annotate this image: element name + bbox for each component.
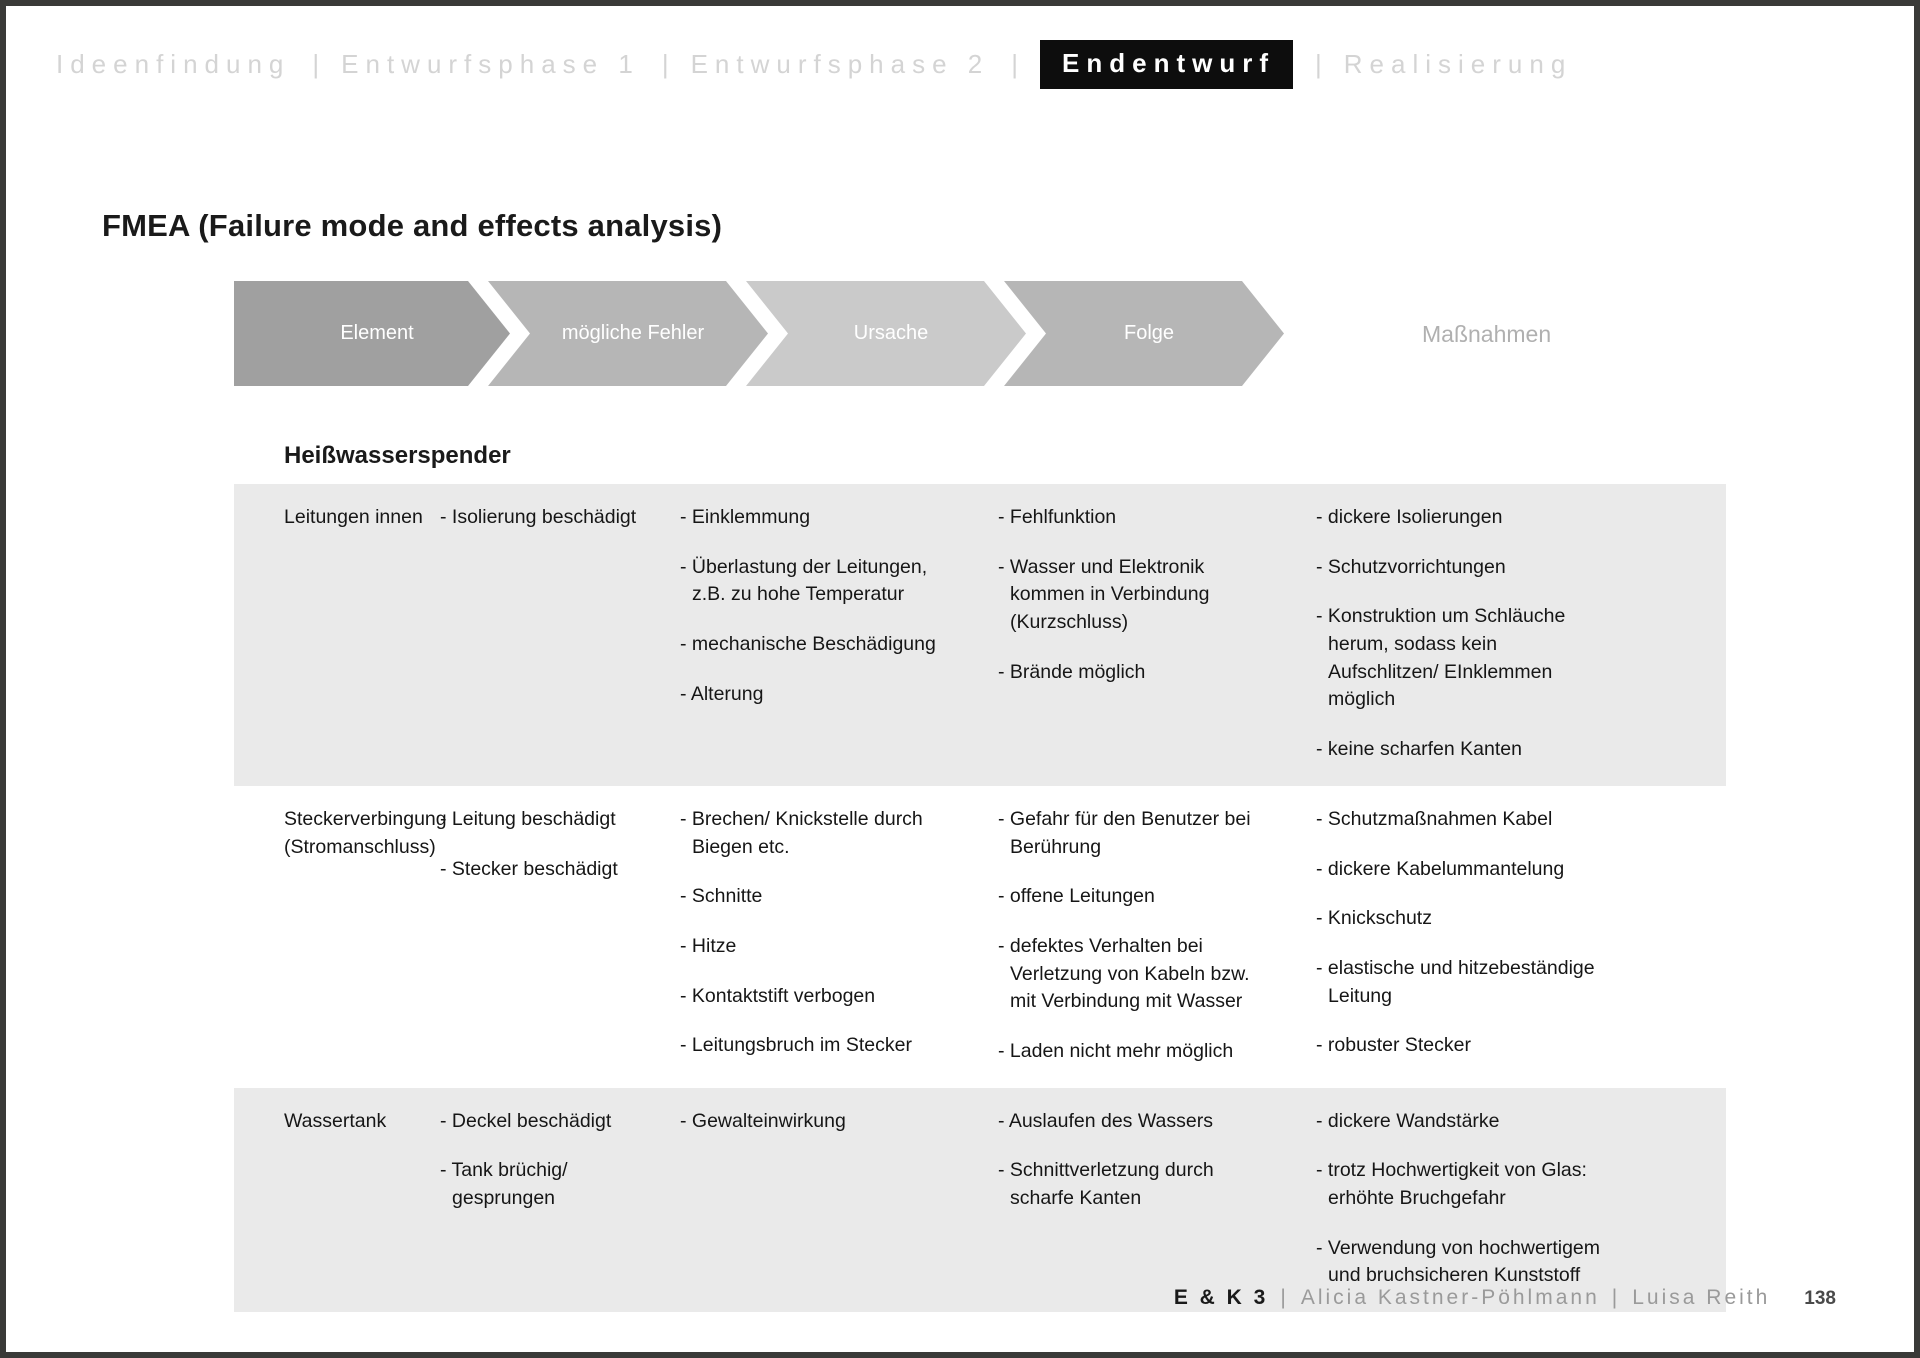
bullet-item: - dickere Wandstärke [1316,1108,1656,1136]
footer: E & K 3 | Alicia Kastner-Pöhlmann | Luis… [1174,1286,1836,1310]
bullet-item: - robuster Stecker [1316,1032,1656,1060]
bullet-item: - Wasser und Elektronik kommen in Verbin… [998,554,1302,637]
bullet-item: - Knickschutz [1316,905,1656,933]
bullet-item: - Brechen/ Knickstelle durch Biegen etc. [680,806,984,861]
cell-folge: - Fehlfunktion - Wasser und Elektronik k… [998,504,1316,764]
table-row: Leitungen innen - Isolierung beschädigt … [234,484,1726,786]
bullet-item: - Fehlfunktion [998,504,1302,532]
cell-folge: - Gefahr für den Benutzer bei Berührung … [998,806,1316,1066]
chevron-step-ursache: Ursache [746,281,1026,386]
bullet-item: - Gewalteinwirkung [680,1108,984,1136]
phase-separator: | [1293,49,1344,80]
bullet-item: - Hitze [680,933,984,961]
footer-author-1: Alicia Kastner-Pöhlmann [1301,1286,1600,1310]
cell-ursache: - Einklemmung - Überlastung der Leitunge… [680,504,998,764]
bullet-item: - Schnittverletzung durch scharfe Kanten [998,1157,1302,1212]
bullet-item: - Verwendung von hochwertigem und bruchs… [1316,1235,1656,1290]
footer-team: E & K 3 [1174,1286,1269,1310]
cell-ursache: - Gewalteinwirkung [680,1108,998,1290]
bullet-item: - Überlastung der Leitungen, z.B. zu hoh… [680,554,984,609]
cell-massnahmen: - Schutzmaßnahmen Kabel - dickere Kabelu… [1316,806,1666,1066]
cell-massnahmen: - dickere Wandstärke - trotz Hochwertigk… [1316,1108,1666,1290]
cell-moegliche-fehler: - Deckel beschädigt - Tank brüchig/ gesp… [440,1108,680,1290]
table-row: Wassertank - Deckel beschädigt - Tank br… [234,1088,1726,1312]
bullet-item: - Brände möglich [998,659,1302,687]
cell-massnahmen: - dickere Isolierungen - Schutzvorrichtu… [1316,504,1666,764]
phase-item-endentwurf[interactable]: Endentwurf [1040,40,1293,89]
cell-moegliche-fehler: - Isolierung beschädigt [440,504,680,764]
fmea-table: Leitungen innen - Isolierung beschädigt … [234,484,1726,1312]
bullet-item: - Laden nicht mehr möglich [998,1038,1302,1066]
page-title: FMEA (Failure mode and effects analysis) [102,208,722,244]
bullet-item: - Isolierung beschädigt [440,504,670,532]
bullet-item: - Leitung beschädigt [440,806,670,834]
phase-item-entwurfsphase-1[interactable]: Entwurfsphase 1 [341,43,640,86]
cell-folge: - Auslaufen des Wassers - Schnittverletz… [998,1108,1316,1290]
footer-separator: | [1600,1286,1632,1310]
phase-item-realisierung[interactable]: Realisierung [1344,43,1573,86]
bullet-item: - Schutzvorrichtungen [1316,554,1656,582]
phase-item-entwurfsphase-2[interactable]: Entwurfsphase 2 [691,43,990,86]
chevron-step-element: Element [234,281,510,386]
slide: Ideenfindung | Entwurfsphase 1 | Entwurf… [0,0,1920,1358]
cell-element: Leitungen innen [234,504,440,764]
bullet-item: - Kontaktstift verbogen [680,983,984,1011]
chevron-step-folge: Folge [1004,281,1284,386]
bullet-item: - Auslaufen des Wassers [998,1108,1302,1136]
phase-item-ideenfindung[interactable]: Ideenfindung [56,43,290,86]
bullet-item: - mechanische Beschädigung [680,631,984,659]
cell-text: Leitungen innen [284,504,432,532]
bullet-item: - trotz Hochwertigkeit von Glas: erhöhte… [1316,1157,1656,1212]
bullet-item: - elastische und hitzebeständige Leitung [1316,955,1656,1010]
bullet-item: - dickere Isolierungen [1316,504,1656,532]
bullet-item: - Gefahr für den Benutzer bei Berührung [998,806,1302,861]
cell-moegliche-fehler: - Leitung beschädigt - Stecker beschädig… [440,806,680,1066]
chevron-label-massnahmen: Maßnahmen [1422,321,1551,348]
bullet-item: - Einklemmung [680,504,984,532]
bullet-item: - dickere Kabelummantelung [1316,856,1656,884]
chevron-label: mögliche Fehler [552,322,704,345]
bullet-item: - offene Leitungen [998,883,1302,911]
bullet-item: - keine scharfen Kanten [1316,736,1656,764]
bullet-item: - Tank brüchig/ gesprungen [440,1157,670,1212]
phase-separator: | [640,49,691,80]
phase-separator: | [290,49,341,80]
phase-navigation: Ideenfindung | Entwurfsphase 1 | Entwurf… [56,40,1572,89]
chevron-label: Ursache [844,322,928,345]
cell-element: Steckerverbingung (Stromanschluss) [234,806,440,1066]
bullet-item: - Stecker beschädigt [440,856,670,884]
process-chevron-bar: Element mögliche Fehler Ursache Folge [234,281,1284,386]
chevron-step-moegliche-fehler: mögliche Fehler [488,281,768,386]
bullet-item: - Alterung [680,681,984,709]
table-row: Steckerverbingung (Stromanschluss) - Lei… [234,786,1726,1088]
bullet-item: - Leitungsbruch im Stecker [680,1032,984,1060]
chevron-label: Element [330,322,413,345]
footer-author-2: Luisa Reith [1632,1286,1770,1310]
footer-separator: | [1268,1286,1300,1310]
cell-element: Wassertank [234,1108,440,1290]
cell-text: Wassertank [284,1108,432,1136]
chevron-label: Folge [1114,322,1174,345]
bullet-item: - Schnitte [680,883,984,911]
bullet-item: - Schutzmaßnahmen Kabel [1316,806,1656,834]
page-number: 138 [1804,1288,1836,1310]
cell-text: Steckerverbingung (Stromanschluss) [284,806,432,861]
bullet-item: - Deckel beschädigt [440,1108,670,1136]
phase-separator: | [989,49,1040,80]
bullet-item: - defektes Verhalten bei Verletzung von … [998,933,1302,1016]
cell-ursache: - Brechen/ Knickstelle durch Biegen etc.… [680,806,998,1066]
section-heading: Heißwasserspender [284,442,511,470]
bullet-item: - Konstruktion um Schläuche herum, sodas… [1316,603,1656,714]
